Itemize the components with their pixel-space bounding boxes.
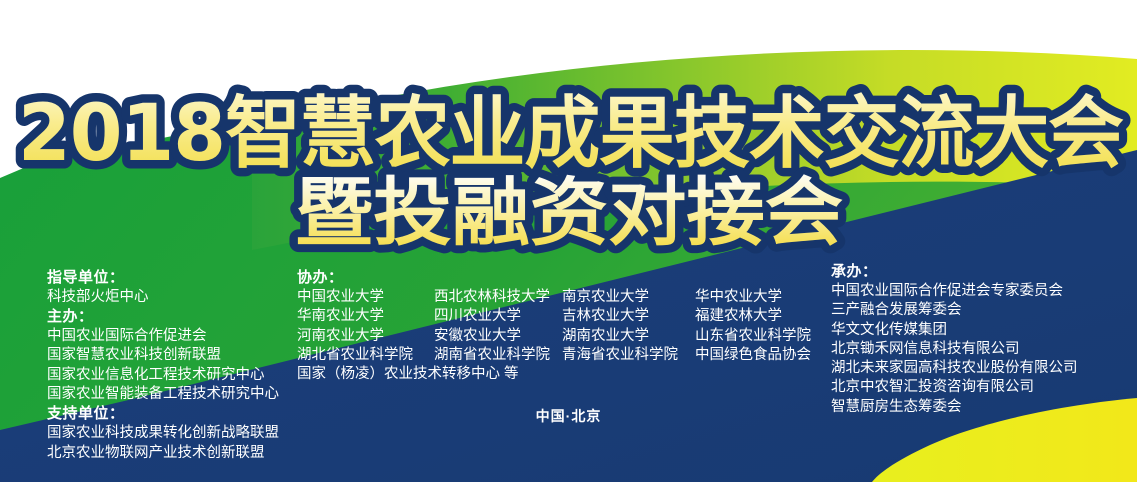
coorg-item: 湖南农业大学: [562, 327, 695, 346]
coorg-row: 华南农业大学 四川农业大学 吉林农业大学 福建农林大学: [297, 307, 828, 326]
coorg-item: 河南农业大学: [297, 327, 434, 346]
org-item: 中国农业国际合作促进会: [47, 327, 279, 346]
coorg-item: 山东省农业科学院: [695, 327, 828, 346]
undertaker-item: 北京中农智汇投资咨询有限公司: [831, 378, 1078, 397]
org-item: 科技部火炬中心: [47, 288, 279, 307]
undertaker-item: 三产融合发展筹委会: [831, 301, 1078, 320]
coorg-item: 中国农业大学: [297, 288, 434, 307]
undertaker-item: 中国农业国际合作促进会专家委员会: [831, 282, 1078, 301]
coorg-item: 湖南省农业科学院: [434, 346, 562, 365]
org-item: 国家农业智能装备工程技术研究中心: [47, 385, 279, 404]
undertaker-item: 湖北未来家园高科技农业股份有限公司: [831, 359, 1078, 378]
org-item: 国家智慧农业科技创新联盟: [47, 346, 279, 365]
undertaker-item: 华文文化传媒集团: [831, 321, 1078, 340]
coorg-item: 中国绿色食品协会: [695, 346, 828, 365]
coorg-item: 湖北省农业科学院: [297, 346, 434, 365]
coorg-row: 河南农业大学 安徽农业大学 湖南农业大学 山东省农业科学院: [297, 327, 828, 346]
coorg-item: 吉林农业大学: [562, 307, 695, 326]
org-item: 国家农业信息化工程技术研究中心: [47, 366, 279, 385]
coorg-row: 湖北省农业科学院 湖南省农业科学院 青海省农业科学院 中国绿色食品协会: [297, 346, 828, 365]
coorg-item: 西北农林科技大学: [434, 288, 562, 307]
coorg-item: 四川农业大学: [434, 307, 562, 326]
section-header-guidance: 指导单位：: [47, 268, 279, 288]
coorg-item: 华中农业大学: [695, 288, 828, 307]
org-item: 国家农业科技成果转化创新战略联盟: [47, 424, 279, 443]
coorg-item: 华南农业大学: [297, 307, 434, 326]
coorg-item: 福建农林大学: [695, 307, 828, 326]
coorg-item: 安徽农业大学: [434, 327, 562, 346]
coorg-item: 南京农业大学: [562, 288, 695, 307]
undertaker-item: 北京锄禾网信息科技有限公司: [831, 340, 1078, 359]
coorg-row: 国家（杨凌）农业技术转移中心 等: [297, 365, 828, 384]
co-organizers-column: 协办： 中国农业大学 西北农林科技大学 南京农业大学 华中农业大学 华南农业大学…: [297, 268, 828, 384]
section-header-undertaker: 承办：: [831, 262, 1078, 282]
section-header-coorganizer: 协办：: [297, 268, 828, 288]
org-item: 北京农业物联网产业技术创新联盟: [47, 444, 279, 463]
coorg-item: 国家（杨凌）农业技术转移中心 等: [297, 365, 519, 384]
coorg-item: 青海省农业科学院: [562, 346, 695, 365]
undertakers-column: 承办： 中国农业国际合作促进会专家委员会 三产融合发展筹委会 华文文化传媒集团 …: [831, 262, 1078, 417]
venue-text: 中国·北京: [536, 406, 602, 426]
conference-banner: 2018智慧农业成果技术交流大会 2018智慧农业成果技术交流大会 暨投融资对接…: [0, 0, 1137, 482]
coorg-row: 中国农业大学 西北农林科技大学 南京农业大学 华中农业大学: [297, 288, 828, 307]
venue-location: 中国·北京: [0, 406, 1137, 426]
section-header-host: 主办：: [47, 307, 279, 327]
organizers-left-column: 指导单位： 科技部火炬中心 主办： 中国农业国际合作促进会 国家智慧农业科技创新…: [47, 268, 279, 463]
